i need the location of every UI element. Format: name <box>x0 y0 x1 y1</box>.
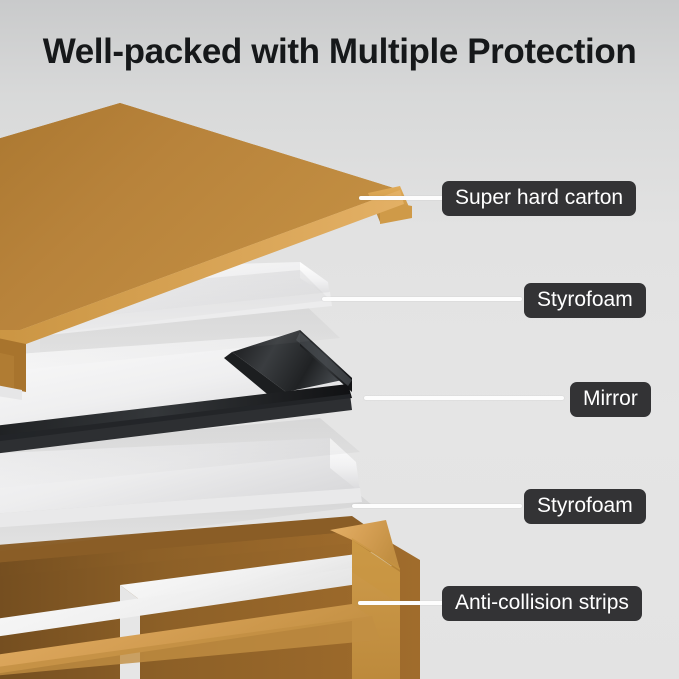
label-super-hard-carton: Super hard carton <box>442 181 636 216</box>
label-styrofoam-top: Styrofoam <box>524 283 646 318</box>
label-mirror-text: Mirror <box>583 388 638 409</box>
leader-line-super-hard-carton <box>359 196 444 200</box>
label-styrofoam-bottom-text: Styrofoam <box>537 495 633 516</box>
packaging-infographic: Well-packed with Multiple Protection <box>0 0 679 679</box>
leader-line-styrofoam-bottom <box>352 504 522 508</box>
leader-line-mirror <box>364 396 564 400</box>
label-styrofoam-top-text: Styrofoam <box>537 289 633 310</box>
label-anti-collision-strips-text: Anti-collision strips <box>455 592 629 613</box>
leader-line-anti-collision-strips <box>358 601 444 605</box>
label-super-hard-carton-text: Super hard carton <box>455 187 623 208</box>
label-anti-collision-strips: Anti-collision strips <box>442 586 642 621</box>
label-mirror: Mirror <box>570 382 651 417</box>
leader-line-styrofoam-top <box>322 297 522 301</box>
exploded-packaging-illustration <box>0 0 679 679</box>
label-styrofoam-bottom: Styrofoam <box>524 489 646 524</box>
